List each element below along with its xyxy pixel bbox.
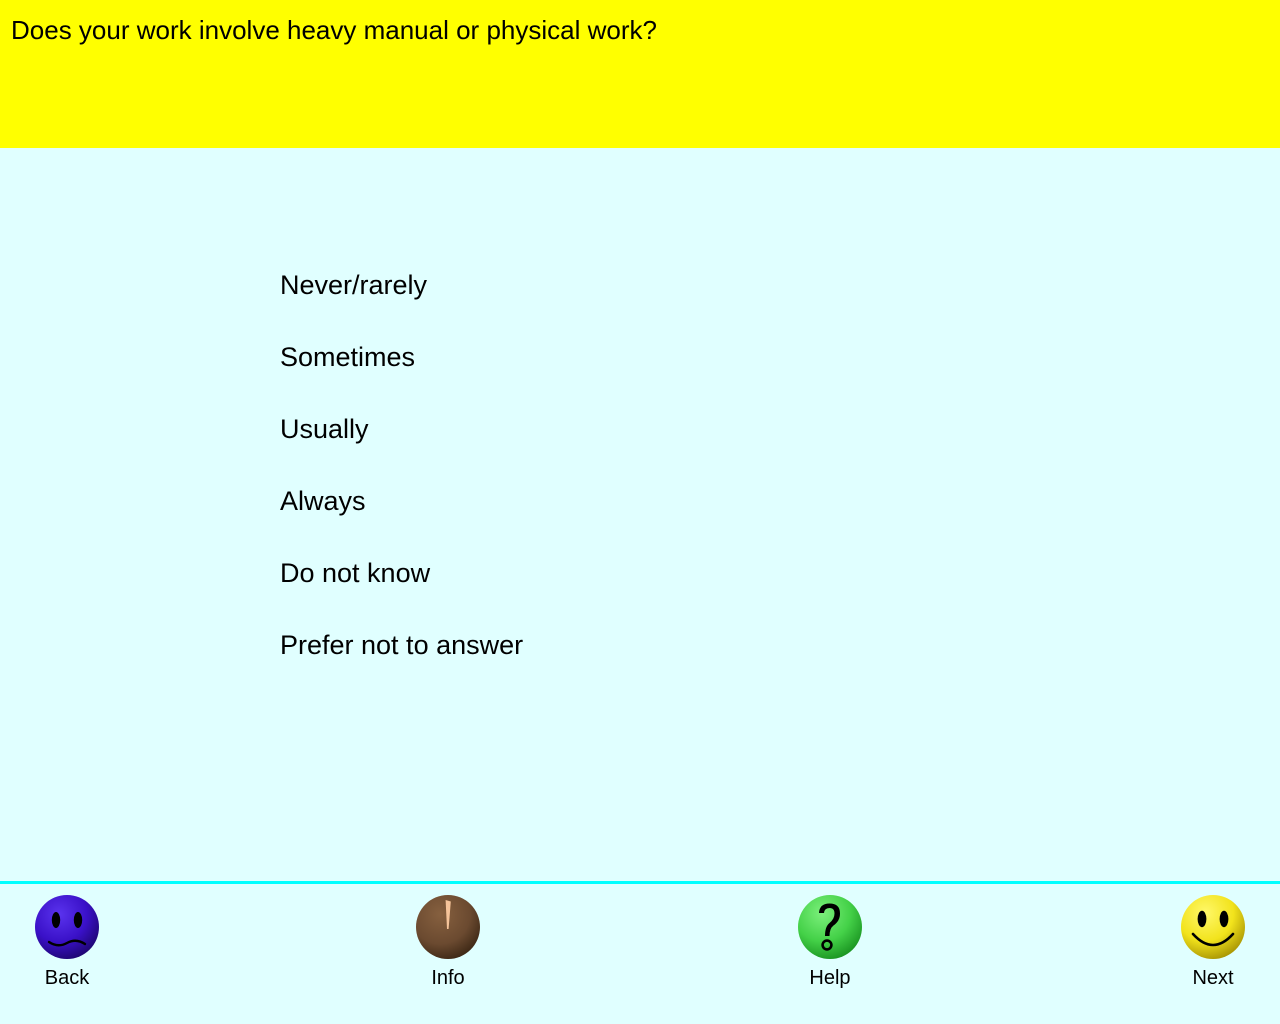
answer-option-sometimes[interactable]: Sometimes <box>280 341 1100 413</box>
answer-option-label[interactable]: Sometimes <box>280 341 415 373</box>
answer-options-list: Never/rarely Sometimes Usually Always Do… <box>280 269 1100 701</box>
next-button-label: Next <box>1153 966 1273 990</box>
info-button[interactable]: Info <box>388 892 508 990</box>
yellow-smiley-face-icon[interactable] <box>1177 892 1249 964</box>
answer-option-prefer-not-to-answer[interactable]: Prefer not to answer <box>280 629 1100 701</box>
help-button[interactable]: Help <box>770 892 890 990</box>
questionnaire-screen: Does your work involve heavy manual or p… <box>0 0 1280 1024</box>
back-button-label: Back <box>7 966 127 990</box>
answer-option-label[interactable]: Prefer not to answer <box>280 629 523 661</box>
info-button-label: Info <box>388 966 508 990</box>
answer-option-always[interactable]: Always <box>280 485 1100 557</box>
next-button[interactable]: Next <box>1153 892 1273 990</box>
navigation-bar: Back Info <box>0 884 1280 1024</box>
answer-option-label[interactable]: Do not know <box>280 557 430 589</box>
back-button[interactable]: Back <box>7 892 127 990</box>
green-question-mark-icon[interactable] <box>794 892 866 964</box>
question-banner: Does your work involve heavy manual or p… <box>0 0 1280 148</box>
brown-clock-dial-icon[interactable] <box>412 892 484 964</box>
help-button-label: Help <box>770 966 890 990</box>
answer-option-label[interactable]: Never/rarely <box>280 269 427 301</box>
blue-neutral-face-icon[interactable] <box>31 892 103 964</box>
answer-option-label[interactable]: Always <box>280 485 366 517</box>
answer-option-label[interactable]: Usually <box>280 413 369 445</box>
answer-option-do-not-know[interactable]: Do not know <box>280 557 1100 629</box>
answer-option-never-rarely[interactable]: Never/rarely <box>280 269 1100 341</box>
answer-option-usually[interactable]: Usually <box>280 413 1100 485</box>
question-text: Does your work involve heavy manual or p… <box>11 14 657 47</box>
